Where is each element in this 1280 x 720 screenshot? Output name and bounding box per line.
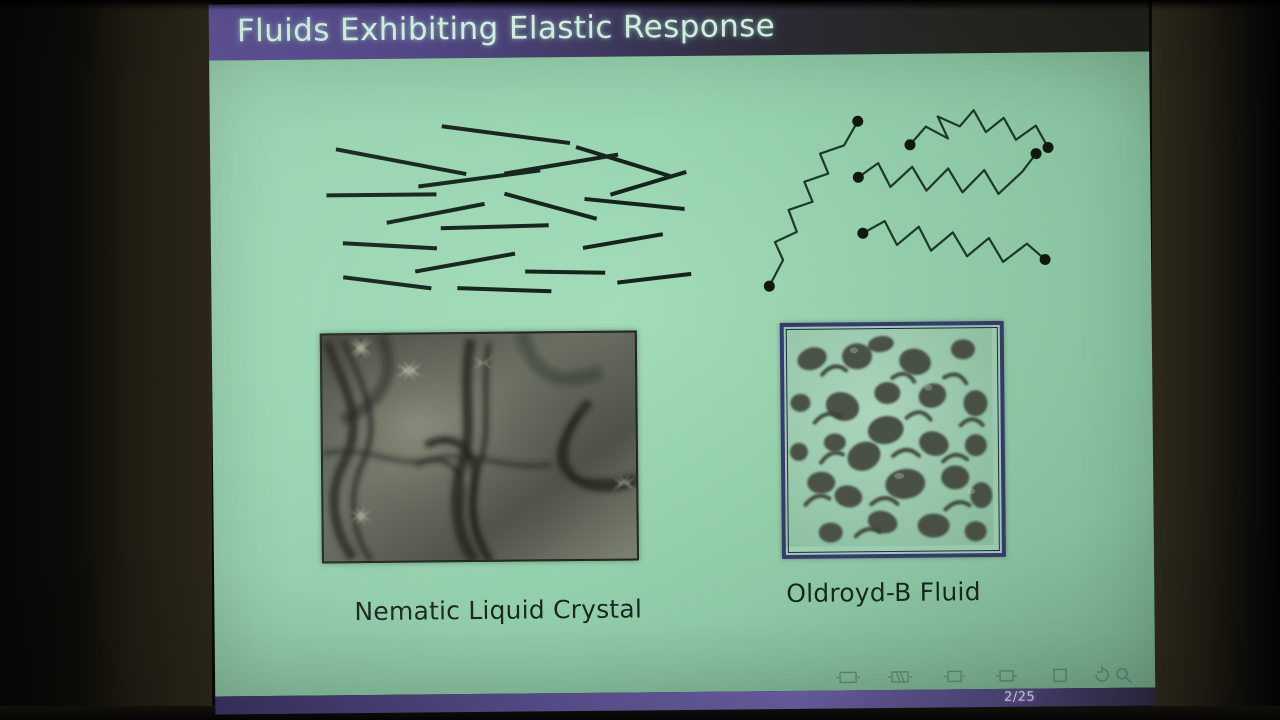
polymer-chain — [863, 220, 1045, 264]
nematic-rod — [504, 155, 618, 174]
section-nav-icon — [996, 671, 1017, 681]
nematic-rod — [441, 225, 549, 228]
projected-slide-photo: Fluids Exhibiting Elastic Response — [0, 0, 1280, 720]
polymer-bead — [853, 172, 864, 183]
frame-nav-icon — [888, 672, 912, 682]
polymer-chain — [910, 109, 1048, 148]
back-icon — [1096, 666, 1108, 681]
nematic-rod — [525, 271, 605, 274]
slide-nav-icon — [836, 672, 860, 682]
nematic-rod — [415, 254, 515, 272]
nematic-rod-schematic — [318, 114, 700, 298]
subsection-nav-icon — [944, 671, 965, 681]
nematic-rod — [457, 287, 551, 292]
schlieren-texture — [321, 331, 638, 562]
polymer-bead — [857, 228, 868, 239]
caption-oldroyd: Oldroyd-B Fluid — [786, 577, 981, 608]
polymer-bead — [764, 281, 775, 292]
nematic-rod — [617, 274, 691, 283]
nematic-rod — [343, 276, 431, 289]
nematic-rod — [343, 242, 437, 249]
room-wall-right — [1152, 0, 1280, 720]
polymer-chain-schematic — [750, 107, 1072, 300]
polymer-bead — [852, 116, 863, 127]
polymer-bead — [1042, 142, 1053, 153]
nematic-rod — [336, 148, 466, 175]
nematic-rod — [610, 172, 686, 195]
nematic-rod — [326, 194, 436, 195]
nematic-rod — [576, 146, 670, 177]
document-icon — [1054, 669, 1066, 681]
nematic-rod — [442, 125, 570, 144]
polymer-bead — [904, 139, 915, 150]
caption-nematic: Nematic Liquid Crystal — [354, 594, 642, 626]
nematic-rod — [584, 198, 684, 210]
search-icon — [1117, 669, 1131, 683]
slide-body: Nematic Liquid Crystal Oldroyd-B Fluid — [209, 52, 1155, 697]
nematic-rod — [418, 170, 540, 186]
nematic-rod — [583, 234, 663, 248]
polymer-chain — [768, 121, 860, 286]
page-number: 2/25 — [1004, 690, 1035, 705]
nematic-liquid-crystal-image — [320, 330, 639, 563]
beamer-slide: Fluids Exhibiting Elastic Response — [209, 0, 1156, 714]
room-wall-left — [0, 0, 212, 720]
polymer-bead — [1031, 148, 1042, 159]
page-title: Fluids Exhibiting Elastic Response — [237, 8, 776, 49]
polymer-chain — [858, 154, 1036, 196]
slide-title-bar: Fluids Exhibiting Elastic Response — [209, 0, 1149, 61]
nematic-rod — [504, 193, 596, 220]
beamer-navigation-symbols[interactable] — [830, 664, 1140, 689]
nematic-rod — [387, 204, 485, 223]
droplet-texture — [784, 325, 994, 547]
oldroyd-b-fluid-image — [780, 321, 1006, 559]
polymer-bead — [1040, 254, 1051, 265]
